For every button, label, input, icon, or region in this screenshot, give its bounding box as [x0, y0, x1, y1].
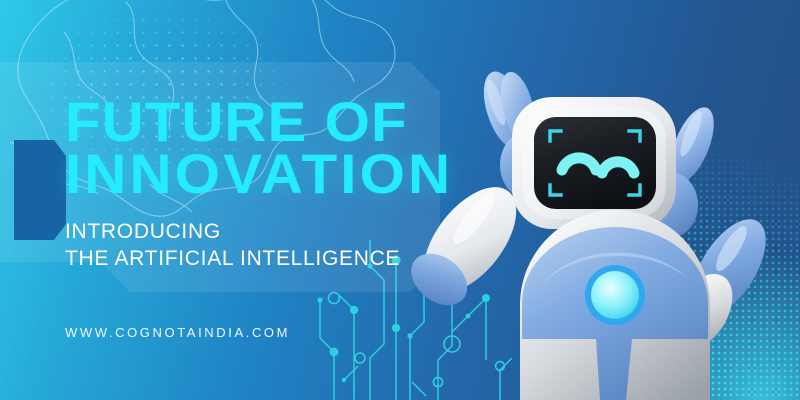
subtitle-line-2: THE ARTIFICIAL INTELLIGENCE: [65, 247, 400, 270]
headline-line-2: INNOVATION: [65, 148, 481, 200]
website-url[interactable]: WWW.COGNOTAINDIA.COM: [65, 325, 290, 340]
copy-block: FUTURE OF INNOVATION INTRODUCING THE ART…: [65, 96, 465, 273]
ai-banner: FUTURE OF INNOVATION INTRODUCING THE ART…: [0, 0, 800, 400]
panel-tab-accent: [14, 140, 66, 240]
robot-core-glow: [591, 271, 639, 319]
subtitle-line-1: INTRODUCING: [65, 220, 221, 243]
subtitle: INTRODUCING THE ARTIFICIAL INTELLIGENCE: [65, 219, 465, 273]
page-title: FUTURE OF INNOVATION: [65, 96, 481, 199]
